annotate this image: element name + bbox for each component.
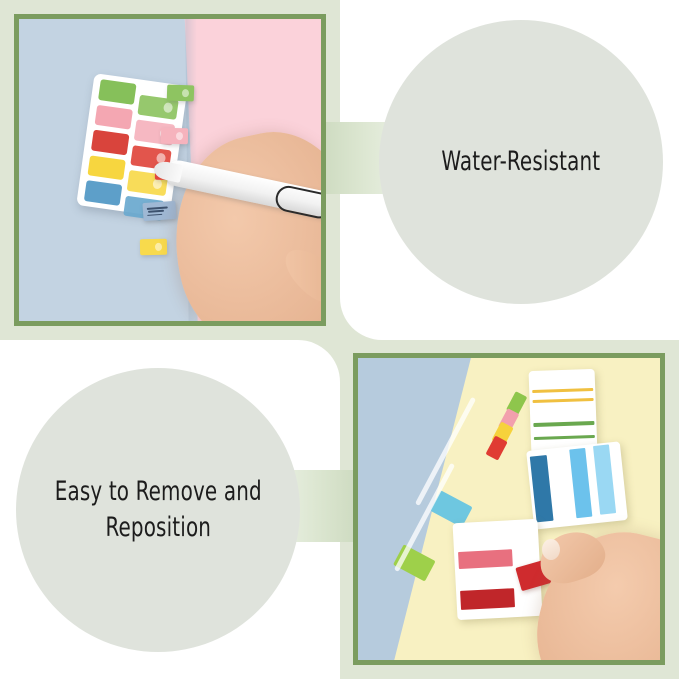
photo-frame-peeling-tab xyxy=(353,353,665,665)
card-band-green xyxy=(533,421,594,427)
feature-circle-easy-to-remove: Easy to Remove and Reposition xyxy=(16,368,300,652)
page-tab-yellow xyxy=(140,239,167,255)
card-band-pale-blue xyxy=(593,444,616,514)
card-band-light-blue xyxy=(569,448,592,518)
peeling-tab-photo xyxy=(358,358,660,660)
page-tab-pink xyxy=(161,127,188,143)
page-tab-green xyxy=(167,85,195,102)
tab-card-blue xyxy=(526,441,627,529)
writing-on-tab-photo xyxy=(19,19,321,321)
card-band-pink xyxy=(458,549,513,569)
card-band-green xyxy=(534,435,595,441)
card-band-red xyxy=(460,588,515,610)
thumb xyxy=(276,239,321,311)
card-band-yellow xyxy=(532,398,593,404)
card-band-yellow xyxy=(532,388,593,394)
pad-chip-red xyxy=(92,130,131,156)
pad-chip-yellow xyxy=(88,155,127,181)
feature-infographic: Water-Resistant Easy to Remove and Repos… xyxy=(0,0,679,679)
tab-card-yellow-green xyxy=(529,369,598,456)
pad-chip-blue xyxy=(85,181,124,207)
pad-chip-pink xyxy=(95,105,134,131)
page-tab-blue-labeled xyxy=(142,201,176,221)
handwriting-stroke xyxy=(147,210,164,213)
photo-frame-writing-on-tab xyxy=(14,14,326,326)
feature-circle-water-resistant: Water-Resistant xyxy=(379,20,663,304)
pad-chip-green xyxy=(99,80,138,106)
card-band-dark-blue xyxy=(530,455,554,522)
handwriting-stroke xyxy=(147,206,168,209)
feature-label-easy-to-remove: Easy to Remove and Reposition xyxy=(50,474,267,545)
feature-label-water-resistant: Water-Resistant xyxy=(437,144,606,180)
handwriting-stroke xyxy=(147,213,162,216)
